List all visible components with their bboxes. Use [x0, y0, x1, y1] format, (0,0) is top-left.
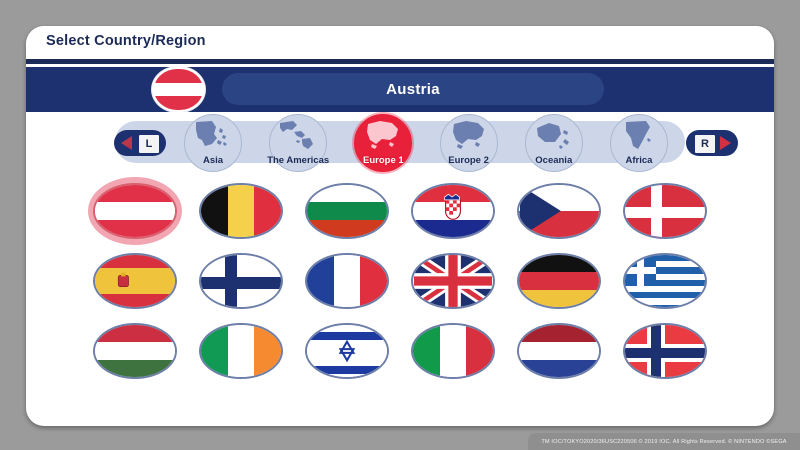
flag-czech-icon [517, 183, 601, 239]
tab-asia-label: Asia [176, 155, 250, 166]
page-title: Select Country/Region [46, 33, 206, 49]
flag-austria-icon [93, 183, 177, 239]
flag-hungary-icon [93, 323, 177, 379]
flag-cell-netherlands[interactable] [516, 322, 602, 380]
flag-cell-croatia[interactable] [410, 182, 496, 240]
flag-france-icon [305, 253, 389, 309]
flag-denmark-icon [623, 183, 707, 239]
tab-the-americas-label: The Americas [261, 155, 335, 166]
tab-africa-label: Africa [602, 155, 676, 166]
flag-cell-great-britain[interactable] [410, 252, 496, 310]
tab-oceania-label: Oceania [517, 155, 591, 166]
tab-africa[interactable]: Africa [602, 114, 676, 170]
map-europe2-icon [446, 118, 492, 152]
flag-belgium-icon [199, 183, 283, 239]
flag-cell-france[interactable] [304, 252, 390, 310]
flag-greece-icon [623, 253, 707, 309]
tab-europe-1-label: Europe 1 [346, 155, 420, 166]
arrow-left-icon [121, 136, 132, 150]
flag-row [26, 176, 774, 246]
tab-europe-2[interactable]: Europe 2 [432, 114, 506, 170]
selected-country-bar: Austria [26, 67, 774, 112]
flag-norway-icon [623, 323, 707, 379]
flag-cell-bulgaria[interactable] [304, 182, 390, 240]
flag-cell-finland[interactable] [198, 252, 284, 310]
flag-cell-germany[interactable] [516, 252, 602, 310]
flag-croatia-icon [411, 183, 495, 239]
select-country-panel: Select Country/Region Austria L [26, 26, 774, 426]
flag-cell-austria[interactable] [92, 182, 178, 240]
flag-cell-hungary[interactable] [92, 322, 178, 380]
flag-ireland-icon [199, 323, 283, 379]
flag-finland-icon [199, 253, 283, 309]
prev-page-button[interactable]: L [114, 130, 166, 156]
map-asia-icon [190, 118, 236, 152]
prev-button-label: L [138, 134, 160, 154]
map-africa-icon [616, 118, 662, 152]
flag-germany-icon [517, 253, 601, 309]
tab-europe-2-label: Europe 2 [432, 155, 506, 166]
flag-israel-icon [305, 323, 389, 379]
next-page-button[interactable]: R [686, 130, 738, 156]
flag-netherlands-icon [517, 323, 601, 379]
screen-root: Select Country/Region Austria L [0, 0, 800, 450]
flag-cell-spain[interactable] [92, 252, 178, 310]
flag-spain-icon [93, 253, 177, 309]
flag-italy-icon [411, 323, 495, 379]
flag-cell-ireland[interactable] [198, 322, 284, 380]
flag-cell-denmark[interactable] [622, 182, 708, 240]
flag-cell-greece[interactable] [622, 252, 708, 310]
tab-oceania[interactable]: Oceania [517, 114, 591, 170]
flag-cell-norway[interactable] [622, 322, 708, 380]
selected-country-pill: Austria [222, 73, 604, 105]
region-tabs: Asia The Americas [176, 114, 676, 172]
tab-asia[interactable]: Asia [176, 114, 250, 170]
tab-the-americas[interactable]: The Americas [261, 114, 335, 170]
flag-cell-belgium[interactable] [198, 182, 284, 240]
title-bar: Select Country/Region [26, 26, 774, 59]
flag-row [26, 316, 774, 386]
flag-row [26, 246, 774, 316]
arrow-right-icon [720, 136, 731, 150]
flag-cell-israel[interactable] [304, 322, 390, 380]
map-oceania-icon [531, 118, 577, 152]
flag-austria-icon [152, 67, 205, 112]
map-americas-icon [275, 118, 321, 152]
region-tab-strip: L Asia [26, 112, 774, 174]
flag-great-britain-icon [411, 253, 495, 309]
flag-grid [26, 176, 774, 388]
flag-cell-czech-republic[interactable] [516, 182, 602, 240]
copyright-text: TM IOC/TOKYO2020/36USC220506 © 2019 IOC.… [530, 434, 798, 450]
map-europe-icon [360, 118, 406, 152]
next-button-label: R [694, 134, 716, 154]
flag-bulgaria-icon [305, 183, 389, 239]
flag-cell-italy[interactable] [410, 322, 496, 380]
tab-europe-1[interactable]: Europe 1 [346, 114, 420, 170]
selected-country-name: Austria [222, 73, 604, 105]
